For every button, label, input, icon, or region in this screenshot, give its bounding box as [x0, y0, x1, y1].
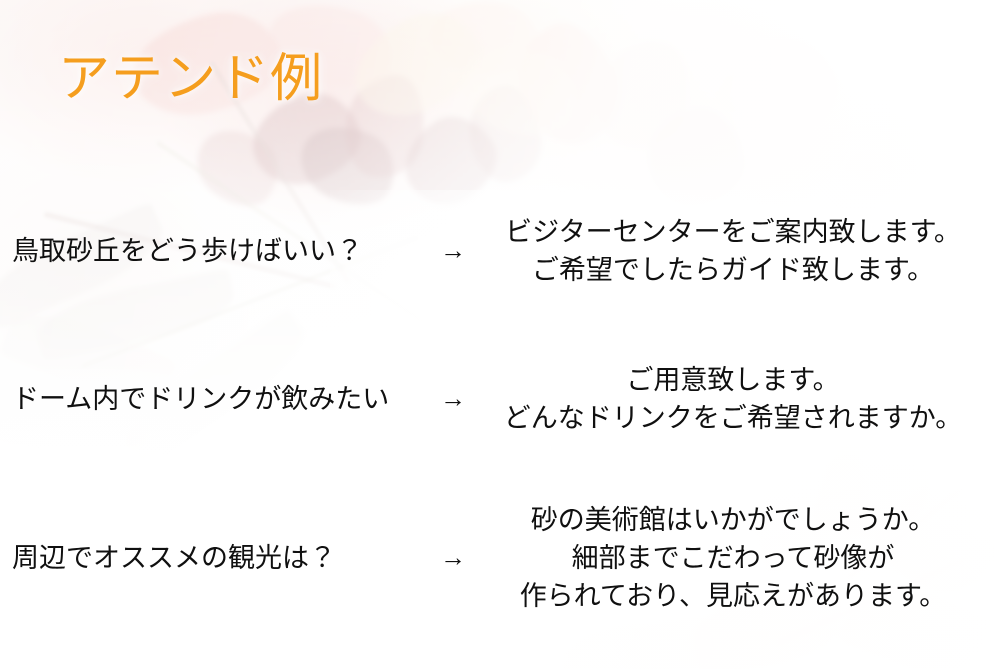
answer-line: ビジターセンターをご案内致します。: [484, 213, 982, 251]
answer-text: ビジターセンターをご案内致します。 ご希望でしたらガイド致します。: [484, 213, 994, 290]
arrow-icon: →: [422, 386, 484, 412]
answer-line: ご希望でしたらガイド致します。: [484, 251, 982, 289]
table-row: 鳥取砂丘をどう歩けばいい？ → ビジターセンターをご案内致します。 ご希望でした…: [0, 176, 994, 326]
answer-line: 細部までこだわって砂像が: [484, 539, 982, 577]
page-title: アテンド例: [58, 54, 323, 106]
attendance-examples-table: 鳥取砂丘をどう歩けばいい？ → ビジターセンターをご案内致します。 ご希望でした…: [0, 176, 994, 644]
presentation-slide: アテンド例 鳥取砂丘をどう歩けばいい？ → ビジターセンターをご案内致します。 …: [0, 0, 994, 669]
arrow-icon: →: [422, 545, 484, 571]
table-row: ドーム内でドリンクが飲みたい → ご用意致します。 どんなドリンクをご希望されま…: [0, 326, 994, 472]
question-text: ドーム内でドリンクが飲みたい: [0, 381, 422, 417]
slide-content: アテンド例 鳥取砂丘をどう歩けばいい？ → ビジターセンターをご案内致します。 …: [0, 0, 994, 669]
answer-line: 砂の美術館はいかがでしょうか。: [484, 501, 982, 539]
answer-line: 作られており、見応えがあります。: [484, 577, 982, 615]
answer-line: ご用意致します。: [484, 361, 982, 399]
question-text: 周辺でオススメの観光は？: [0, 540, 422, 576]
answer-text: 砂の美術館はいかがでしょうか。 細部までこだわって砂像が 作られており、見応えが…: [484, 501, 994, 616]
answer-line: どんなドリンクをご希望されますか。: [484, 399, 982, 437]
question-text: 鳥取砂丘をどう歩けばいい？: [0, 233, 422, 269]
answer-text: ご用意致します。 どんなドリンクをご希望されますか。: [484, 361, 994, 438]
table-row: 周辺でオススメの観光は？ → 砂の美術館はいかがでしょうか。 細部までこだわって…: [0, 472, 994, 644]
arrow-icon: →: [422, 238, 484, 264]
